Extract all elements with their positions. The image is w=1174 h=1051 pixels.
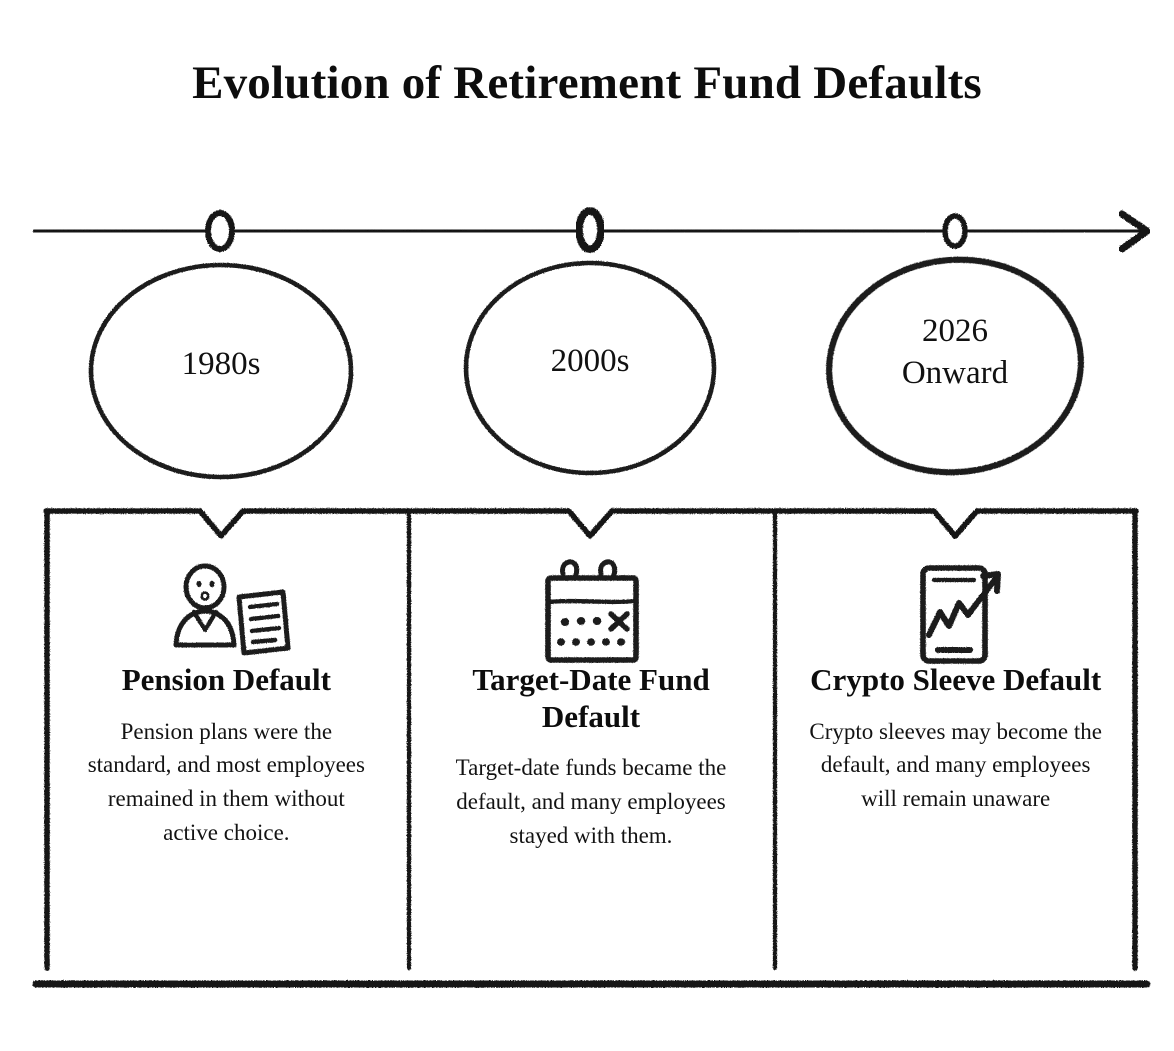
era-label-2026: 2026 Onward [825, 310, 1085, 394]
page-title: Evolution of Retirement Fund Defaults [0, 56, 1174, 110]
cards-row: Pension Default Pension plans were the s… [44, 508, 1138, 970]
card-body: Crypto sleeves may become the default, a… [805, 715, 1107, 816]
card-title: Crypto Sleeve Default [810, 662, 1101, 699]
era-label-1980s: 1980s [91, 343, 351, 385]
card-title: Target-Date Fund Default [427, 662, 756, 735]
era-label-2000s: 2000s [460, 340, 720, 382]
timeline-axis [36, 230, 1141, 232]
card-body: Target-date funds became the default, an… [441, 751, 741, 852]
card-title: Pension Default [122, 662, 331, 699]
timeline-marker-2000s [579, 211, 601, 249]
timeline-marker-1980s [208, 213, 232, 249]
diagram-canvas: Evolution of Retirement Fund Defaults [0, 0, 1174, 1051]
card-pension-default[interactable]: Pension Default Pension plans were the s… [44, 508, 409, 970]
card-body: Pension plans were the standard, and mos… [78, 715, 374, 850]
card-target-date-fund-default[interactable]: Target-Date Fund Default Target-date fun… [409, 508, 774, 970]
timeline-marker-2026 [945, 216, 965, 246]
card-crypto-sleeve-default[interactable]: Crypto Sleeve Default Crypto sleeves may… [773, 508, 1138, 970]
timeline-arrowhead [1122, 214, 1147, 249]
